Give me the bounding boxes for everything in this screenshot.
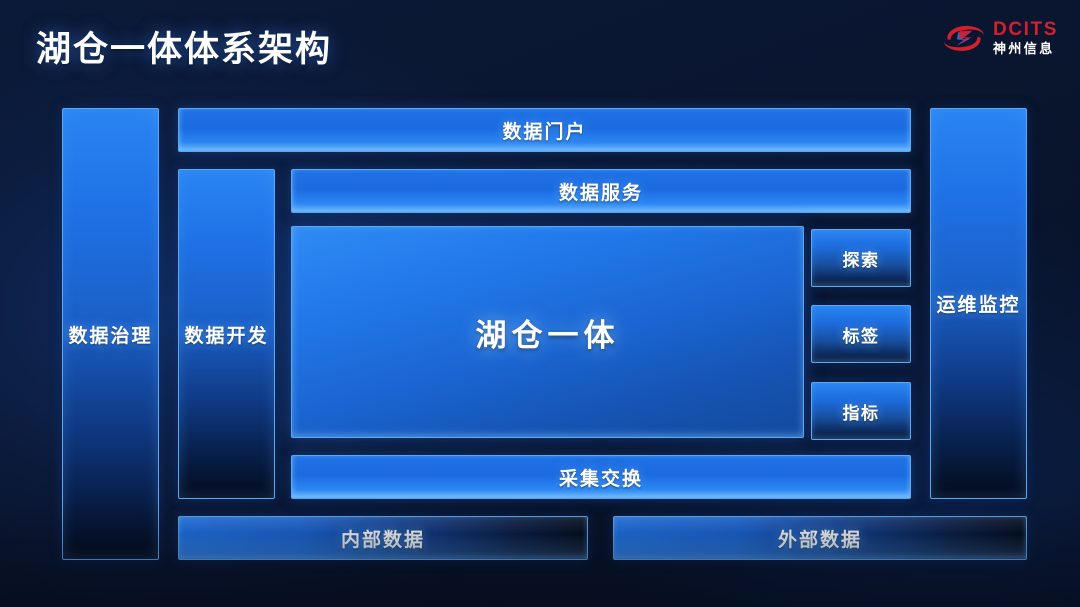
logo-text-cn: 神州信息: [993, 42, 1058, 55]
block-internal-data[interactable]: 内部数据: [178, 516, 588, 560]
block-label: 数据服务: [559, 178, 643, 205]
block-collect-exchange[interactable]: 采集交换: [291, 455, 911, 499]
block-label: 标签: [843, 322, 880, 347]
block-label: 探索: [843, 246, 880, 271]
swirl-icon: [942, 21, 986, 55]
block-data-portal[interactable]: 数据门户: [178, 108, 911, 152]
brand-logo: DCITS 神州信息: [942, 20, 1058, 55]
slide-canvas: 湖仓一体体系架构 DCITS 神州信息 数据治理 数据开发 数据门户 数据服务 …: [0, 0, 1080, 607]
block-tags[interactable]: 标签: [811, 305, 911, 363]
block-data-governance[interactable]: 数据治理: [62, 108, 159, 560]
block-ops-monitoring[interactable]: 运维监控: [930, 108, 1027, 499]
block-label: 数据开发: [184, 321, 268, 348]
block-metrics[interactable]: 指标: [811, 382, 911, 440]
block-label: 数据门户: [502, 117, 586, 144]
block-label: 内部数据: [341, 525, 425, 552]
block-label: 指标: [843, 399, 880, 424]
block-label: 外部数据: [778, 525, 862, 552]
block-explore[interactable]: 探索: [811, 229, 911, 287]
block-label: 湖仓一体: [476, 310, 620, 355]
block-data-service[interactable]: 数据服务: [291, 169, 911, 213]
block-lakehouse[interactable]: 湖仓一体: [291, 226, 804, 438]
block-label: 运维监控: [936, 290, 1020, 317]
block-external-data[interactable]: 外部数据: [613, 516, 1027, 560]
block-data-development[interactable]: 数据开发: [178, 169, 275, 499]
logo-text: DCITS 神州信息: [993, 20, 1058, 55]
page-title: 湖仓一体体系架构: [36, 21, 332, 72]
block-label: 采集交换: [559, 464, 643, 491]
block-label: 数据治理: [68, 321, 152, 348]
logo-text-en: DCITS: [993, 20, 1058, 39]
